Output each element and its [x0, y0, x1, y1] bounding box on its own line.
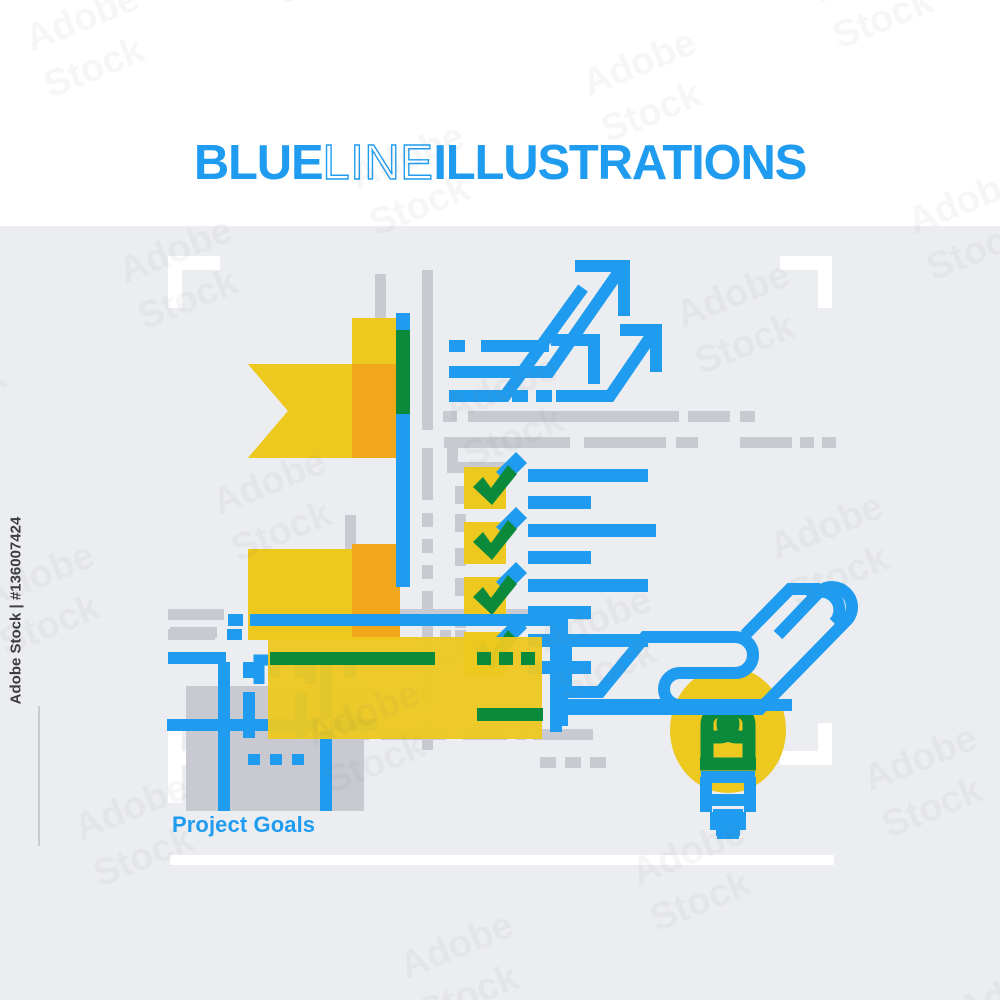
header-band: BLUELINEILLUSTRATIONS	[0, 0, 1000, 226]
hand-wrist-line	[560, 699, 792, 711]
caption-underline	[170, 855, 834, 865]
artwork-canvas	[0, 226, 1000, 1000]
flag-pole	[396, 313, 410, 587]
brand-word-blue: BLUE	[194, 136, 323, 190]
checklist-item	[464, 507, 527, 564]
brand-title: BLUELINEILLUSTRATIONS	[0, 139, 1000, 188]
growth-arrows	[449, 266, 656, 396]
checklist-item	[464, 452, 527, 509]
project-goals-illustration	[0, 226, 1000, 1000]
brand-word-illustrations: ILLUSTRATIONS	[433, 136, 806, 190]
page-title: Project Goals	[172, 812, 315, 838]
illustration-page: BLUELINEILLUSTRATIONS Adobe Stock | #136…	[0, 0, 1000, 1000]
brand-word-line: LINE	[322, 136, 433, 190]
card-left-dashes	[228, 614, 265, 626]
flag-render	[248, 318, 398, 458]
